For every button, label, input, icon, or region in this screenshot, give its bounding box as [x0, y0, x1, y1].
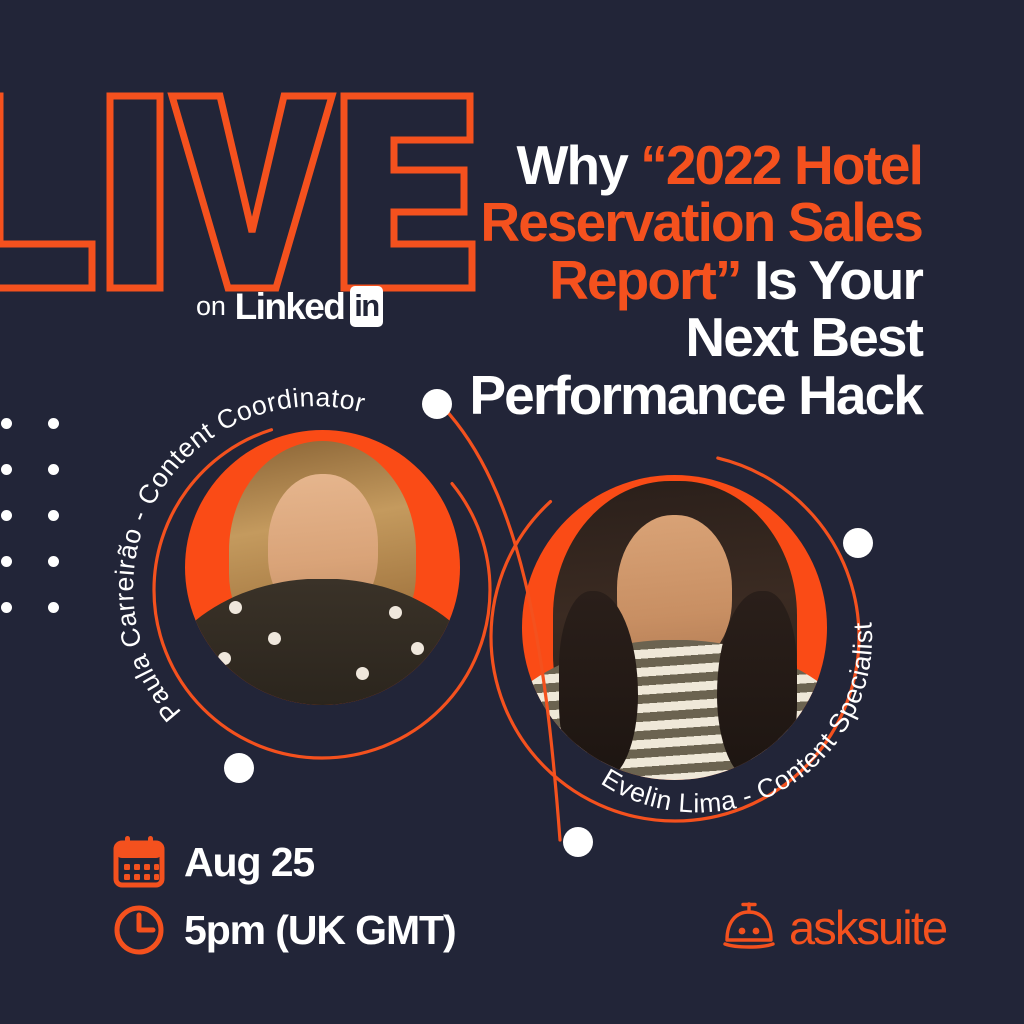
ring-endpoint-dot — [422, 389, 452, 419]
speaker-label-left: Paula Carreirão - Content Coordinator — [109, 382, 369, 728]
event-details: Aug 25 5pm (UK GMT) — [112, 828, 456, 964]
speaker-label-right-text: Evelin Lima - Content Specialist — [597, 621, 878, 819]
speaker-label-left-text: Paula Carreirão - Content Coordinator — [109, 382, 369, 728]
promo-poster: on Linked in Why “2022 Hotel Reservation… — [0, 0, 1024, 1024]
event-time-row: 5pm (UK GMT) — [112, 896, 456, 964]
linkedin-in-badge: in — [350, 286, 382, 327]
event-time-label: 5pm (UK GMT) — [184, 910, 456, 951]
ring-endpoint-dot — [563, 827, 593, 857]
headline-segment-1: Why — [516, 134, 640, 196]
speaker-ring-left — [154, 422, 490, 758]
ring-endpoint-dot — [224, 753, 254, 783]
event-date-row: Aug 25 — [112, 828, 456, 896]
ring-connector-arc — [443, 407, 560, 840]
linkedin-prefix-text: on — [196, 293, 226, 320]
asksuite-logo: asksuite — [722, 902, 946, 952]
live-letter-v — [172, 96, 332, 288]
service-bell-robot-icon — [722, 902, 776, 952]
live-letter-l — [0, 96, 92, 288]
linkedin-platform-label: on Linked in — [196, 286, 383, 326]
clock-icon — [112, 903, 166, 957]
speaker-label-right: Evelin Lima - Content Specialist — [597, 621, 878, 819]
linkedin-brand-text: Linked — [235, 288, 345, 325]
live-letters-svg — [0, 92, 434, 292]
ring-endpoint-dot — [843, 528, 873, 558]
event-date-label: Aug 25 — [184, 842, 314, 883]
live-wordmark — [0, 92, 434, 292]
calendar-icon — [112, 835, 166, 889]
asksuite-wordmark: asksuite — [789, 904, 946, 951]
live-letter-i — [110, 96, 160, 288]
